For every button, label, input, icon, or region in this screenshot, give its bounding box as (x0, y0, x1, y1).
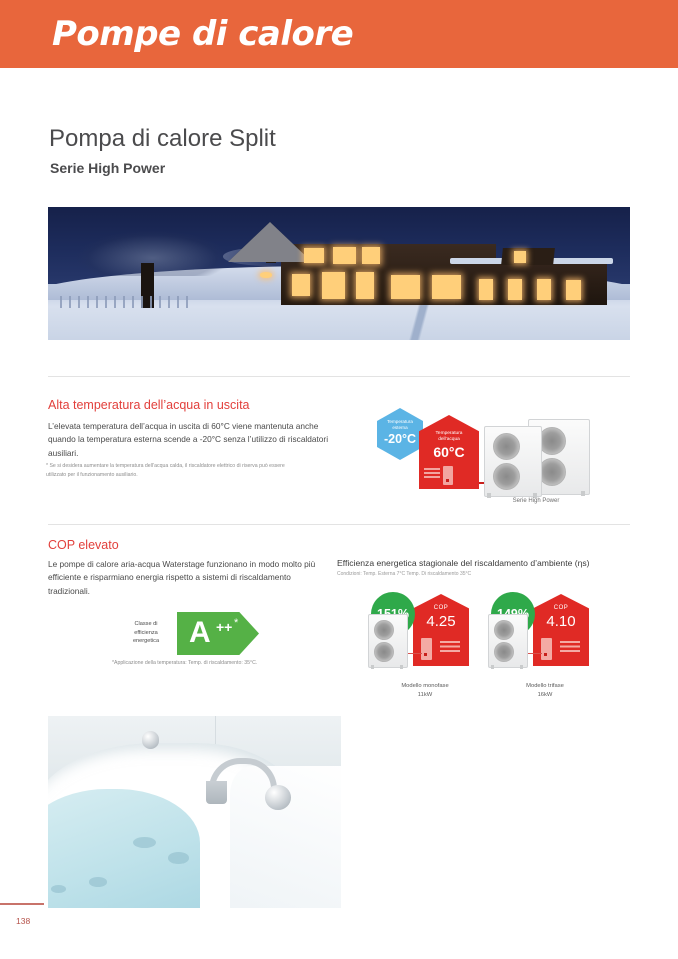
energy-class-label-1: Classe di (134, 621, 157, 627)
photo-window (566, 280, 581, 300)
outdoor-unit-fan (493, 463, 520, 490)
photo-jet (51, 885, 66, 893)
heating-coil-icon (560, 641, 580, 654)
outdoor-unit-leg (520, 665, 523, 669)
photo-window (508, 279, 523, 300)
model-power: 16kW (538, 692, 553, 698)
outdoor-unit-fan (538, 458, 566, 486)
tank-indicator-dot (424, 653, 427, 656)
section-heading-high-temperature: Alta temperatura dell’acqua in uscita (48, 398, 250, 412)
section-footnote-high-temperature: * Se si desidera aumentare la temperatur… (46, 462, 291, 480)
water-badge-label-2: dell’acqua (419, 437, 479, 443)
section-body-high-temperature: L’elevata temperatura dell’acqua in usci… (48, 420, 336, 460)
photo-window (333, 247, 356, 264)
photo-jet (168, 852, 189, 864)
photo-window (514, 251, 527, 263)
tank-indicator-dot (544, 653, 547, 656)
efficiency-conditions: Condizioni: Temp. Esterna 7°C Temp. Di r… (337, 571, 471, 577)
cop-value: 4.10 (533, 613, 589, 630)
efficiency-title: Efficienza energetica stagionale del ris… (337, 558, 590, 568)
outdoor-unit-leg (371, 665, 374, 669)
footer-divider (0, 903, 44, 905)
water-tank-icon (421, 638, 432, 660)
section-divider-top (48, 376, 630, 377)
outdoor-unit-fan (493, 433, 520, 460)
photo-window (356, 272, 373, 299)
cop-value: 4.25 (413, 613, 469, 630)
tank-indicator-dot (446, 479, 449, 482)
outdoor-unit-fan (538, 427, 566, 455)
photo-window (537, 279, 552, 300)
model-caption-monofase: Modello monofase 11kW (370, 682, 480, 700)
bath-photo (48, 716, 341, 908)
energy-class-arrow: A ++ * (177, 612, 259, 655)
photo-window (304, 248, 324, 263)
heating-coil-icon (424, 468, 440, 479)
header-title: Pompe di calore (52, 14, 353, 54)
hero-photo-winter-house (48, 207, 630, 340)
outdoor-unit-fan (494, 642, 514, 662)
water-tank-icon (443, 466, 453, 485)
outdoor-temperature-badge: Temperatura esterna -20°C (377, 408, 423, 460)
photo-fence (60, 296, 188, 308)
section-divider-middle (48, 524, 630, 525)
page-title: Pompa di calore Split (49, 125, 276, 153)
outdoor-badge-value: -20°C (377, 432, 423, 446)
energy-class-note: *Applicazione della temperatura: Temp. d… (112, 660, 257, 666)
outdoor-unit-caption: Serie High Power (480, 498, 592, 504)
model-name: Modello trifase (526, 683, 564, 689)
photo-porch-light (260, 272, 272, 277)
cop-label: COP (533, 605, 589, 611)
outdoor-unit-fan (494, 620, 514, 640)
model-caption-trifase: Modello trifase 16kW (490, 682, 600, 700)
photo-faucet-knob (142, 731, 160, 748)
photo-dormer (501, 248, 555, 265)
outdoor-unit-leg (400, 665, 403, 669)
photo-bath-water (48, 789, 200, 908)
energy-class-plus: ++ (216, 619, 232, 635)
photo-window (432, 275, 461, 299)
outdoor-unit-fan (374, 642, 394, 662)
photo-faucet-knob (265, 785, 291, 810)
outdoor-unit-fan (374, 620, 394, 640)
energy-class-label-2: efficienza (134, 630, 158, 636)
photo-window (292, 274, 309, 297)
model-name: Modello monofase (401, 683, 448, 689)
energy-class-star: * (234, 617, 238, 629)
water-badge-value: 60°C (419, 444, 479, 460)
outdoor-unit-leg (491, 665, 494, 669)
photo-window (391, 275, 420, 299)
photo-window (479, 279, 494, 300)
page-number: 138 (16, 916, 30, 926)
photo-window (322, 272, 345, 299)
photo-window (362, 247, 379, 264)
header-divider (0, 68, 678, 70)
outdoor-badge-label-2: esterna (377, 425, 423, 431)
photo-faucet-outlet (206, 781, 227, 804)
outdoor-unit-leg (581, 491, 585, 496)
model-power: 11kW (418, 692, 432, 698)
energy-class-letter: A (189, 616, 211, 650)
cop-label: COP (413, 605, 469, 611)
section-heading-cop: COP elevato (48, 538, 119, 552)
water-tank-icon (541, 638, 552, 660)
section-body-cop: Le pompe di calore aria-acqua Waterstage… (48, 558, 316, 598)
energy-class-label: Classe di efficienza energetica (118, 620, 174, 646)
energy-class-label-3: energetica (133, 638, 159, 644)
photo-house-roof-snow (228, 222, 312, 262)
page-subtitle: Serie High Power (50, 160, 165, 176)
photo-jet (89, 877, 107, 887)
heating-coil-icon (440, 641, 460, 654)
